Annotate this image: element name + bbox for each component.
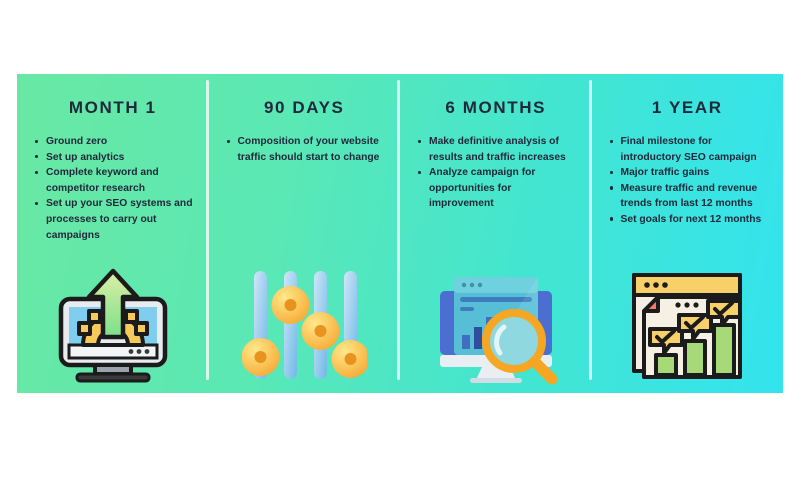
monitor-gear-arrow-icon [43,267,183,385]
slider-controls-icon [242,265,367,385]
bullet-list-90-days: Composition of your website traffic shou… [209,134,401,165]
column-title-month-1: MONTH 1 [69,98,157,118]
timeline-column-6-months: 6 MONTHS Make definitive analysis of res… [400,74,592,393]
monitor-dashboard-magnifier-icon [426,265,566,385]
list-item: Set up your SEO systems and processes to… [35,196,195,243]
list-item: Measure traffic and revenue trends from … [610,181,770,212]
list-item: Major traffic gains [610,165,770,181]
timeline-column-month-1: MONTH 1 Ground zero Set up analytics Com… [17,74,209,393]
illustration-1-year [592,267,784,385]
list-item: Analyze campaign for opportunities for i… [418,165,578,212]
bullet-list-6-months: Make definitive analysis of results and … [400,134,592,212]
list-item: Set goals for next 12 months [610,212,770,228]
timeline-column-1-year: 1 YEAR Final milestone for introductory … [592,74,784,393]
column-title-1-year: 1 YEAR [652,98,723,118]
illustration-90-days [209,265,401,385]
list-item: Composition of your website traffic shou… [227,134,387,165]
list-item: Ground zero [35,134,195,150]
timeline-column-90-days: 90 DAYS Composition of your website traf… [209,74,401,393]
list-item: Final milestone for introductory SEO cam… [610,134,770,165]
list-item: Complete keyword and competitor research [35,165,195,196]
illustration-6-months [400,265,592,385]
illustration-month-1 [17,267,209,385]
slider-knob [271,286,309,324]
bullet-list-month-1: Ground zero Set up analytics Complete ke… [17,134,209,243]
browser-checkmarks-bars-icon [622,267,752,385]
list-item: Make definitive analysis of results and … [418,134,578,165]
seo-timeline-infographic: MONTH 1 Ground zero Set up analytics Com… [17,74,783,393]
slider-knob [331,340,367,378]
bullet-list-1-year: Final milestone for introductory SEO cam… [592,134,784,228]
column-title-90-days: 90 DAYS [264,98,345,118]
column-title-6-months: 6 MONTHS [445,98,546,118]
slider-knob [242,338,280,376]
slider-knob [301,312,339,350]
list-item: Set up analytics [35,150,195,166]
